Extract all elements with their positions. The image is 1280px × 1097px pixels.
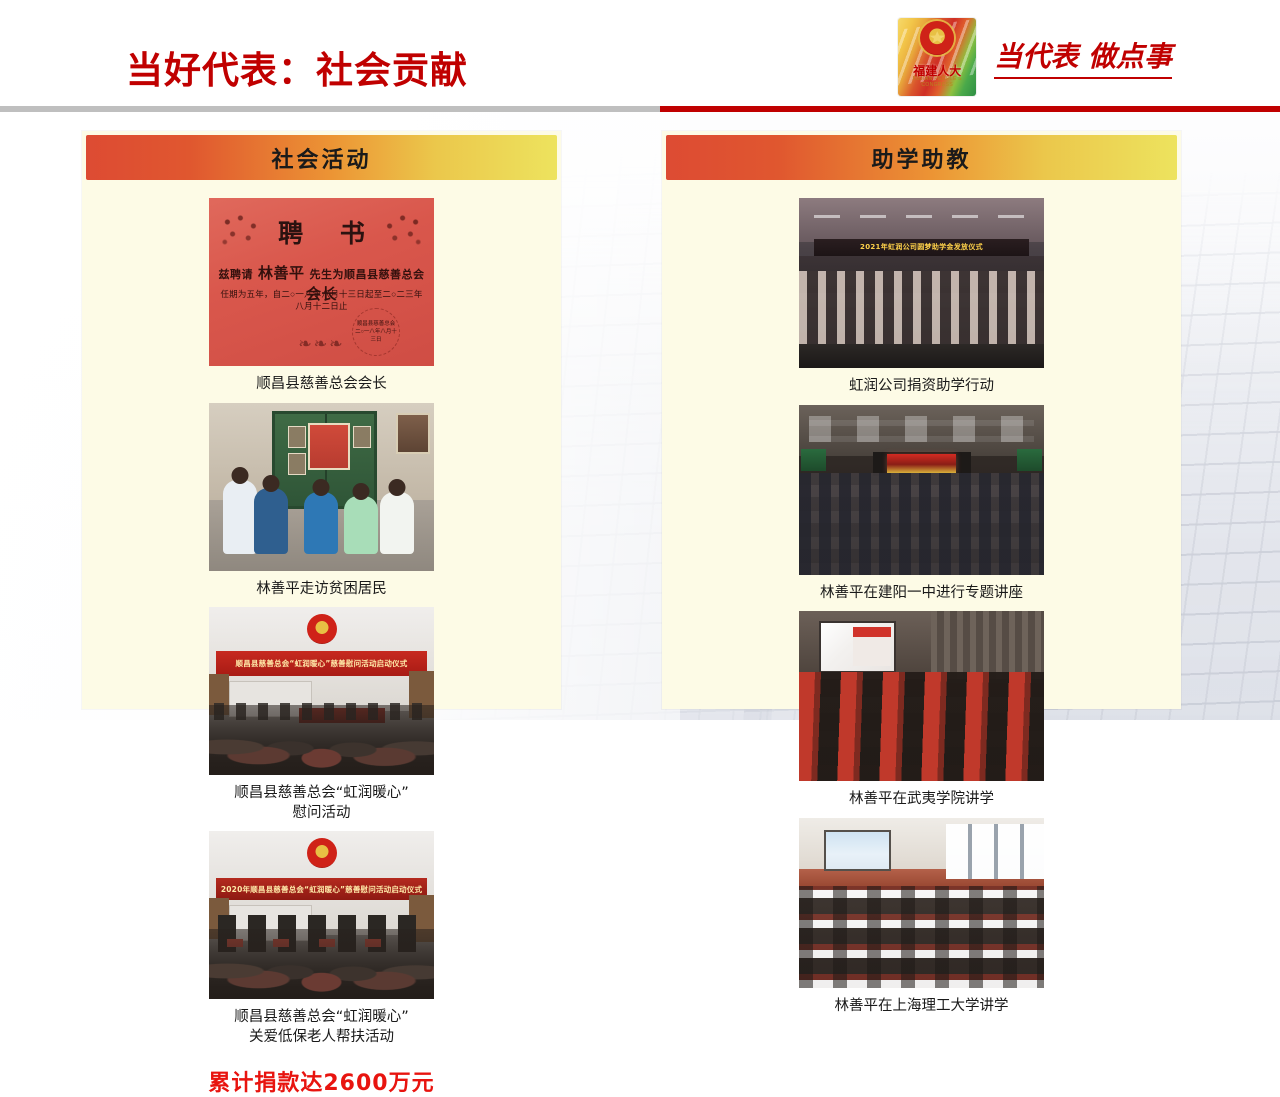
wall-picture-b — [288, 453, 306, 475]
certificate-appointment-letter-photo[interactable]: 聘 书 兹聘请林善平先生为顺昌县慈善总会会长 任期为五年，自二○一八年八月十三日… — [209, 198, 434, 366]
slide-header: 当好代表：社会贡献 福建人大 FUJIAN PEOPLE'S CONGRESS … — [0, 0, 1280, 112]
ornament-bottom: ❧❧❧ — [209, 334, 434, 354]
brand-block: 福建人大 FUJIAN PEOPLE'S CONGRESS 当代表 做点事 — [898, 18, 1172, 96]
charity-ceremony-photo[interactable]: 顺昌县慈善总会“虹润暖心”慈善慰问活动启动仪式 — [209, 607, 434, 775]
fujian-renda-logo-icon: 福建人大 FUJIAN PEOPLE'S CONGRESS — [898, 18, 976, 96]
wall-picture-large — [396, 413, 429, 454]
classroom-windows — [946, 824, 1044, 878]
certificate-title: 聘 书 — [209, 214, 434, 250]
auditorium-lecture-photo[interactable] — [799, 405, 1044, 575]
seated-person-4 — [344, 496, 378, 554]
divider-red-segment — [660, 106, 1280, 112]
caption-charity-ceremony: 顺昌县慈善总会“虹润暖心” 慰问活动 — [232, 775, 411, 827]
group-people — [799, 271, 1044, 344]
panel-social-activities: 社会活动 聘 书 兹聘请林善平先生为顺昌县慈善总会会长 任期为五年，自二○一八年… — [82, 131, 561, 709]
red-seat-lecture-hall-photo[interactable] — [799, 611, 1044, 781]
photo-cell-certificate[interactable]: 聘 书 兹聘请林善平先生为顺昌县慈善总会会长 任期为五年，自二○一八年八月十三日… — [209, 198, 434, 399]
group-stage — [799, 344, 1044, 368]
page-title: 当好代表：社会贡献 — [126, 40, 468, 94]
classroom-projection-screen — [824, 830, 892, 871]
caption-charity-ceremony-2020: 顺昌县慈善总会“虹润暖心” 关爱低保老人帮扶活动 — [232, 999, 411, 1051]
scholarship-banner-text: 2021年虹润公司圆梦助学金发放仪式 — [814, 239, 1030, 256]
classroom-lecture-hall-photo[interactable] — [799, 818, 1044, 988]
logo-english-label: FUJIAN PEOPLE'S CONGRESS — [898, 76, 976, 88]
certificate-line-2: 任期为五年，自二○一八年八月十三日起至二○二三年八月十二日止 — [219, 288, 424, 312]
scholarship-group-photo[interactable]: 2021年虹润公司圆梦助学金发放仪式 — [799, 198, 1044, 368]
wall-picture-c — [353, 426, 371, 448]
panel-education-aid: 助学助教 2021年虹润公司圆梦助学金发放仪式 虹润公司捐资助学行动 — [662, 131, 1181, 709]
panel-header-education: 助学助教 — [666, 135, 1177, 180]
hall-audience — [209, 929, 434, 1000]
group-ceiling — [799, 198, 1044, 242]
panel-body-education: 2021年虹润公司圆梦助学金发放仪式 虹润公司捐资助学行动 林善平在建阳一中进行… — [662, 180, 1181, 1024]
header-divider — [0, 106, 1280, 112]
home-visit-photo[interactable] — [209, 403, 434, 571]
seated-person-5 — [380, 492, 414, 554]
panel-header-social: 社会活动 — [86, 135, 557, 180]
ceremony-banner-text: 2020年顺昌县慈善总会“虹润暖心”慈善慰问活动启动仪式 — [216, 878, 428, 900]
national-emblem-icon — [307, 838, 337, 868]
photo-grid-social: 聘 书 兹聘请林善平先生为顺昌县慈善总会会长 任期为五年，自二○一八年八月十三日… — [96, 198, 547, 1055]
panel-body-social: 聘 书 兹聘请林善平先生为顺昌县慈善总会会长 任期为五年，自二○一八年八月十三日… — [82, 180, 561, 1097]
certificate-prefix: 兹聘请 — [218, 269, 253, 281]
seated-person-2 — [254, 488, 288, 554]
photo-cell-auditorium-lecture[interactable]: 林善平在建阳一中进行专题讲座 — [799, 405, 1044, 608]
auditorium-ceiling — [799, 405, 1044, 456]
auditorium-side-display-left — [801, 449, 826, 471]
caption-classroom-hall: 林善平在上海理工大学讲学 — [833, 988, 1011, 1021]
caption-red-seat-hall: 林善平在武夷学院讲学 — [847, 781, 996, 814]
wall-portrait — [308, 423, 350, 471]
caption-home-visit: 林善平走访贫困居民 — [254, 571, 389, 604]
photo-cell-home-visit[interactable]: 林善平走访贫困居民 — [209, 403, 434, 604]
hall-audience — [209, 705, 434, 776]
ceremony-banner-text: 顺昌县慈善总会“虹润暖心”慈善慰问活动启动仪式 — [216, 651, 428, 676]
donation-total-note: 累计捐款达2600万元 — [96, 1065, 547, 1097]
photo-cell-scholarship-group[interactable]: 2021年虹润公司圆梦助学金发放仪式 虹润公司捐资助学行动 — [799, 198, 1044, 401]
divider-grey-segment — [0, 106, 660, 112]
caption-certificate: 顺昌县慈善总会会长 — [254, 366, 389, 399]
auditorium-screen — [887, 454, 956, 473]
panel-title-social: 社会活动 — [271, 142, 371, 174]
auditorium-audience — [799, 473, 1044, 575]
photo-cell-charity-ceremony[interactable]: 顺昌县慈善总会“虹润暖心”慈善慰问活动启动仪式 顺昌县慈善总会“虹润暖心” 慰问… — [209, 607, 434, 827]
photo-cell-red-seat-hall[interactable]: 林善平在武夷学院讲学 — [799, 611, 1044, 814]
seal-org: 顺昌县慈善总会 — [357, 320, 396, 328]
caption-scholarship-group: 虹润公司捐资助学行动 — [847, 368, 996, 401]
photo-cell-charity-ceremony-2020[interactable]: 2020年顺昌县慈善总会“虹润暖心”慈善慰问活动启动仪式 顺昌县慈善总会“虹润暖… — [209, 831, 434, 1051]
classroom-desks-and-students — [799, 886, 1044, 988]
wall-picture-a — [288, 426, 306, 448]
auditorium-side-display-right — [1017, 449, 1042, 471]
photo-cell-classroom-hall[interactable]: 林善平在上海理工大学讲学 — [799, 818, 1044, 1021]
lecture-hall-red-seats — [799, 672, 1044, 781]
charity-ceremony-2020-photo[interactable]: 2020年顺昌县慈善总会“虹润暖心”慈善慰问活动启动仪式 — [209, 831, 434, 999]
national-emblem-icon — [307, 614, 337, 644]
panel-title-education: 助学助教 — [871, 142, 971, 174]
seated-person-1 — [223, 480, 257, 554]
seated-person-3 — [304, 492, 338, 554]
national-emblem-icon — [920, 21, 954, 55]
caption-auditorium-lecture: 林善平在建阳一中进行专题讲座 — [818, 575, 1025, 608]
brand-slogan: 当代表 做点事 — [994, 35, 1172, 79]
certificate-suffix: 先生为顺昌县慈善总会 — [310, 269, 425, 281]
certificate-person-name: 林善平 — [258, 265, 305, 282]
lecture-hall-projection-screen — [819, 621, 897, 673]
photo-grid-education: 2021年虹润公司圆梦助学金发放仪式 虹润公司捐资助学行动 林善平在建阳一中进行… — [676, 198, 1167, 1024]
